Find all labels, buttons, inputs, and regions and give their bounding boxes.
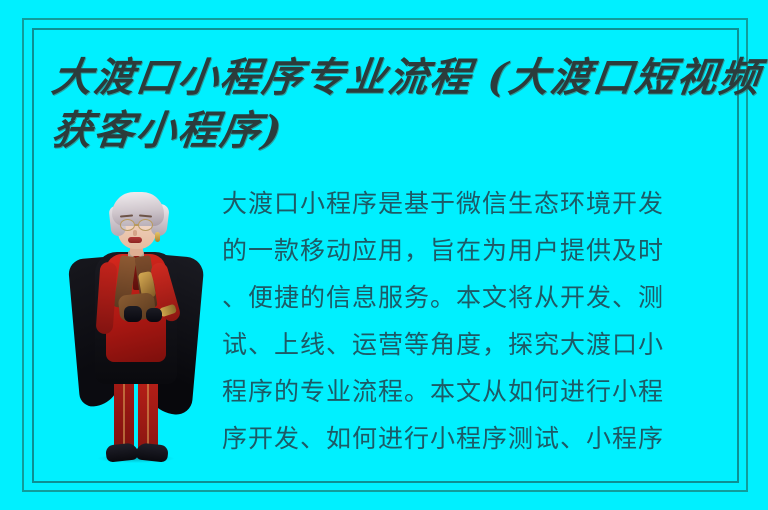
body-line-3: 、便捷的信息服务。本文将从开发、测 bbox=[222, 274, 738, 321]
title-line-1: 大渡口小程序专业流程 (大渡口短视频 bbox=[49, 52, 745, 105]
poster-canvas: 大渡口小程序专业流程 (大渡口短视频 获客小程序) bbox=[0, 0, 768, 510]
shoe-right bbox=[135, 442, 169, 462]
body-line-4: 试、上线、运营等角度，探究大渡口小 bbox=[222, 321, 738, 368]
eyeglass-bridge bbox=[134, 224, 139, 226]
glove-left bbox=[124, 306, 142, 322]
page-title: 大渡口小程序专业流程 (大渡口短视频 获客小程序) bbox=[52, 52, 742, 158]
nose bbox=[133, 230, 137, 236]
body-line-6: 序开发、如何进行小程序测试、小程序 bbox=[222, 415, 738, 462]
eyeglass-lens-right bbox=[138, 219, 153, 231]
character-illustration bbox=[62, 186, 210, 468]
body-line-5: 程序的专业流程。本文从如何进行小程 bbox=[222, 368, 738, 415]
hair-top bbox=[112, 192, 164, 226]
title-line-2: 获客小程序) bbox=[49, 105, 745, 158]
body-text: 大渡口小程序是基于微信生态环境开发 的一款移动应用，旨在为用户提供及时 、便捷的… bbox=[222, 180, 738, 470]
body-line-1: 大渡口小程序是基于微信生态环境开发 bbox=[222, 180, 738, 227]
earring bbox=[155, 232, 160, 242]
glove-right bbox=[146, 308, 162, 322]
shoe-left bbox=[105, 442, 139, 462]
body-line-2: 的一款移动应用，旨在为用户提供及时 bbox=[222, 227, 738, 274]
lips bbox=[128, 237, 142, 243]
eyeglass-lens-left bbox=[120, 219, 135, 231]
